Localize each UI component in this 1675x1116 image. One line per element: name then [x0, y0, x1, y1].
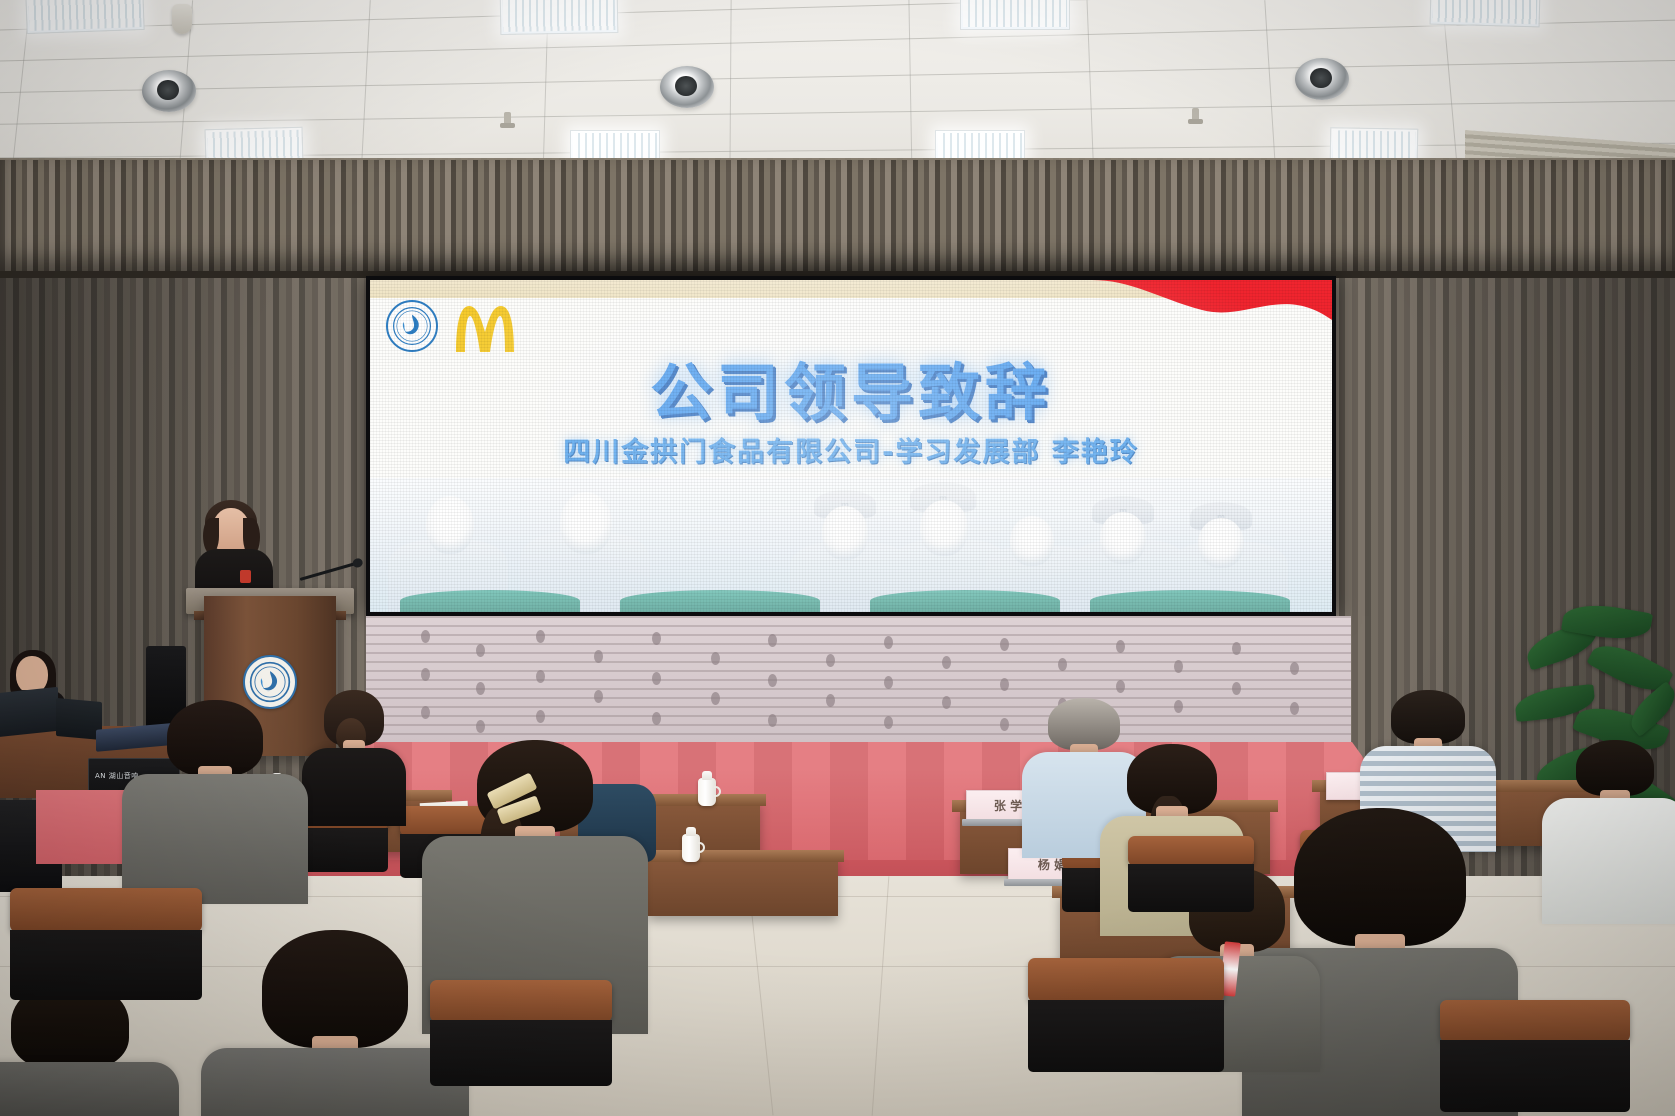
- slide-subtitle: 四川金拱门食品有限公司-学习发展部 李艳玲: [370, 430, 1332, 469]
- ceiling-panel-light: [960, 0, 1070, 30]
- sprinkler-icon: [504, 112, 511, 128]
- ceiling-panel-light: [1430, 0, 1541, 27]
- ceiling-panel-light: [25, 0, 144, 34]
- audience-member: [120, 700, 310, 900]
- teacup: [682, 834, 700, 862]
- slide-title: 公司领导致辞: [370, 342, 1332, 432]
- conference-hall-scene: 公司领导致辞 四川金拱门食品有限公司-学习发展部 李艳玲 m m m: [0, 0, 1675, 1116]
- smoke-detector-icon: [172, 4, 192, 34]
- stage-skirt-dots: [366, 616, 1351, 744]
- ceiling-spotlight: [142, 70, 196, 112]
- sprinkler-icon: [1192, 108, 1199, 124]
- audience-member: [300, 690, 408, 820]
- placard-text: 张 学: [994, 797, 1022, 814]
- slide-wave-decoration: [1032, 280, 1332, 324]
- chair: [1440, 1000, 1630, 1116]
- speaker-badge: [240, 570, 251, 583]
- chair: [1028, 958, 1224, 1076]
- table: [648, 856, 838, 916]
- slide-photo-strip: m m m m: [370, 478, 1332, 612]
- led-screen: 公司领导致辞 四川金拱门食品有限公司-学习发展部 李艳玲 m m m: [366, 276, 1336, 616]
- curtain-valance: [0, 160, 1675, 278]
- ceiling-spotlight: [660, 66, 714, 108]
- chair: [1128, 836, 1254, 916]
- ceiling-panel-light: [500, 0, 619, 35]
- audience-member: [1540, 740, 1675, 920]
- ceiling: [0, 0, 1675, 182]
- presentation-slide: 公司领导致辞 四川金拱门食品有限公司-学习发展部 李艳玲 m m m: [370, 280, 1332, 612]
- laptop[interactable]: [0, 687, 58, 738]
- teacup: [698, 778, 716, 806]
- chair: [430, 980, 612, 1090]
- ceiling-spotlight: [1295, 58, 1349, 100]
- chair: [10, 888, 202, 1004]
- stage-skirt-panel: [366, 616, 1351, 744]
- table-edge: [640, 850, 844, 862]
